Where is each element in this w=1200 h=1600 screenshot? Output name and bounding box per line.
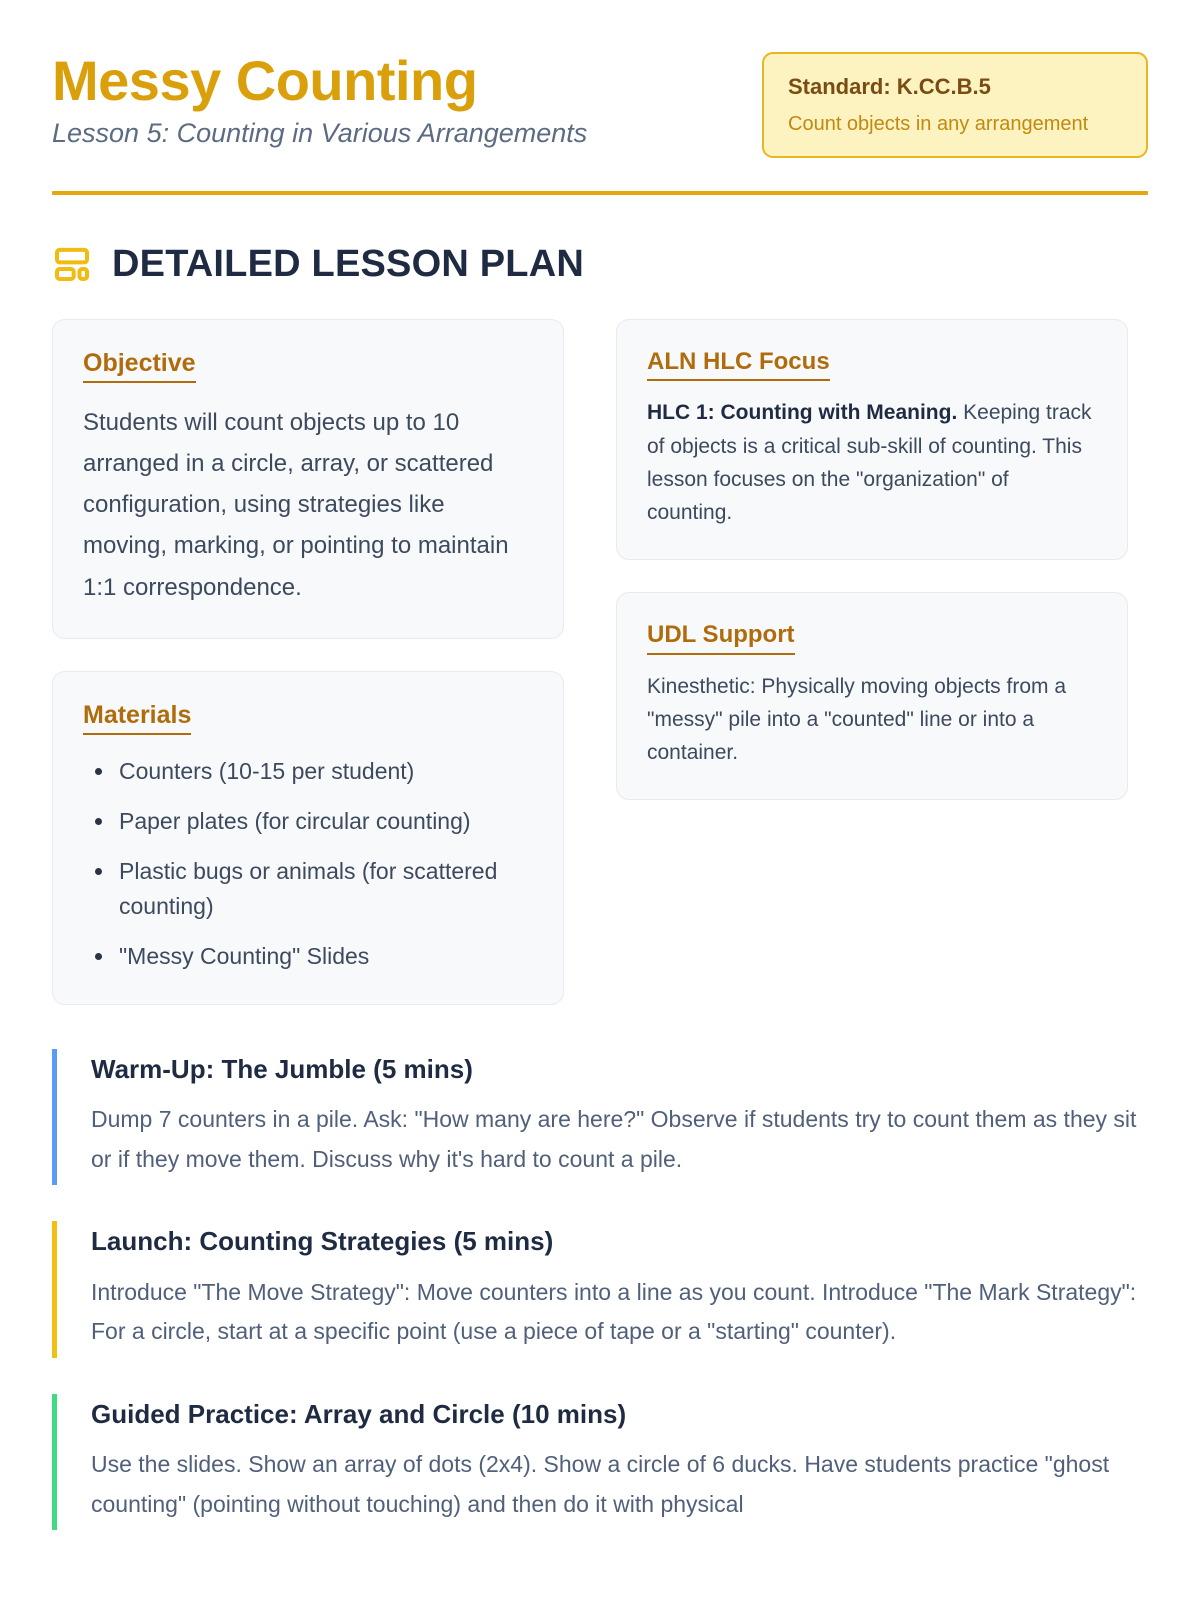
page-subtitle: Lesson 5: Counting in Various Arrangemen…: [52, 117, 587, 151]
page-title: Messy Counting: [52, 52, 587, 111]
udl-support-card: UDL Support Kinesthetic: Physically movi…: [616, 592, 1128, 800]
lesson-plan-page: Messy Counting Lesson 5: Counting in Var…: [0, 0, 1200, 1600]
title-block: Messy Counting Lesson 5: Counting in Var…: [52, 48, 587, 151]
list-item: Paper plates (for circular counting): [83, 804, 533, 839]
section-heading: DETAILED LESSON PLAN: [52, 243, 1148, 286]
udl-support-card-title: UDL Support: [647, 621, 795, 655]
list-item: Counters (10-15 per student): [83, 754, 533, 789]
phase-warm-up: Warm-Up: The Jumble (5 mins) Dump 7 coun…: [52, 1049, 1148, 1186]
aln-hlc-focus-lead: HLC 1: Counting with Meaning.: [647, 401, 957, 424]
header-divider: [52, 191, 1148, 195]
standard-badge: Standard: K.CC.B.5 Count objects in any …: [762, 52, 1148, 158]
phase-guided-practice: Guided Practice: Array and Circle (10 mi…: [52, 1394, 1148, 1531]
cards-grid: Objective Students will count objects up…: [52, 319, 1148, 1005]
aln-hlc-focus-card-body: HLC 1: Counting with Meaning. Keeping tr…: [647, 396, 1097, 529]
udl-support-card-body: Kinesthetic: Physically moving objects f…: [647, 670, 1097, 770]
section-heading-label: DETAILED LESSON PLAN: [112, 243, 584, 286]
layout-dashboard-icon: [52, 244, 92, 284]
list-item: Plastic bugs or animals (for scattered c…: [83, 854, 533, 924]
phase-text: Introduce "The Move Strategy": Move coun…: [91, 1273, 1148, 1352]
right-column: ALN HLC Focus HLC 1: Counting with Meani…: [616, 319, 1128, 801]
materials-card-title: Materials: [83, 700, 191, 735]
objective-card-title: Objective: [83, 348, 196, 383]
page-header: Messy Counting Lesson 5: Counting in Var…: [52, 48, 1148, 158]
materials-card: Materials Counters (10-15 per student) P…: [52, 671, 564, 1005]
standard-badge-description: Count objects in any arrangement: [788, 111, 1124, 137]
phase-title: Launch: Counting Strategies (5 mins): [91, 1225, 1148, 1258]
aln-hlc-focus-card: ALN HLC Focus HLC 1: Counting with Meani…: [616, 319, 1128, 560]
objective-card-body: Students will count objects up to 10 arr…: [83, 402, 533, 608]
left-column: Objective Students will count objects up…: [52, 319, 564, 1005]
objective-card: Objective Students will count objects up…: [52, 319, 564, 639]
standard-badge-title: Standard: K.CC.B.5: [788, 73, 1124, 102]
lesson-phases: Warm-Up: The Jumble (5 mins) Dump 7 coun…: [52, 1049, 1148, 1531]
phase-title: Warm-Up: The Jumble (5 mins): [91, 1053, 1148, 1086]
phase-launch: Launch: Counting Strategies (5 mins) Int…: [52, 1221, 1148, 1358]
phase-text: Dump 7 counters in a pile. Ask: "How man…: [91, 1100, 1148, 1179]
materials-list: Counters (10-15 per student) Paper plate…: [83, 754, 533, 974]
phase-title: Guided Practice: Array and Circle (10 mi…: [91, 1398, 1148, 1431]
phase-text: Use the slides. Show an array of dots (2…: [91, 1445, 1148, 1524]
aln-hlc-focus-card-title: ALN HLC Focus: [647, 348, 830, 382]
list-item: "Messy Counting" Slides: [83, 939, 533, 974]
